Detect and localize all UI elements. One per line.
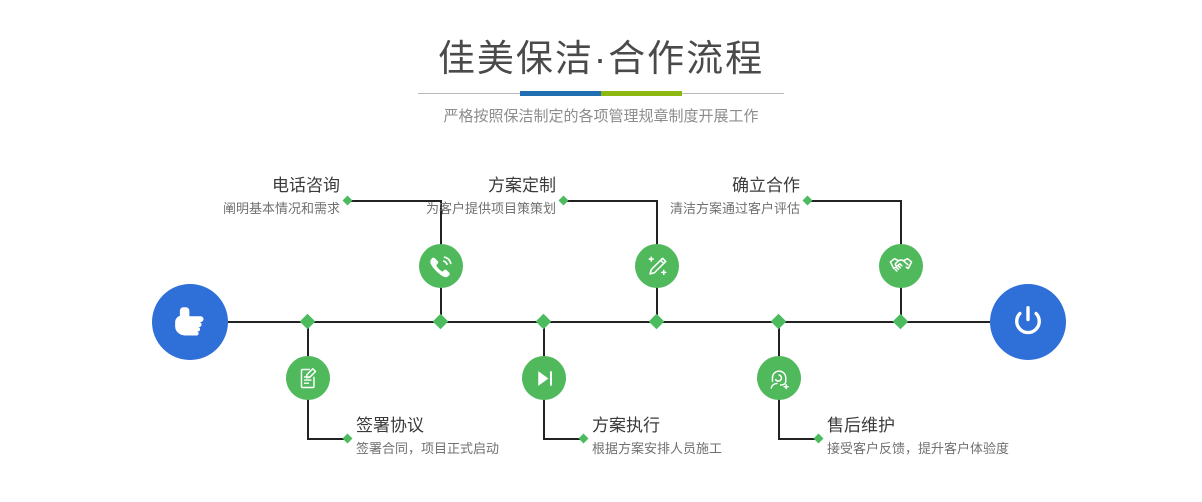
connector-horizontal-step-4 — [543, 438, 582, 440]
step-title-5: 确立合作 — [520, 175, 800, 197]
phone-call-icon — [428, 253, 454, 279]
step-node-2[interactable] — [286, 356, 330, 400]
rail-marker-step-1 — [433, 314, 449, 330]
power-icon — [1008, 302, 1048, 342]
page-header: 佳美保洁·合作流程 严格按照保洁制定的各项管理规章制度开展工作 — [0, 0, 1202, 150]
process-flow-diagram: 电话咨询 阐明基本情况和需求 方案定制 为客户提供项目策策划 — [0, 150, 1202, 502]
connector-horizontal-step-5 — [808, 200, 902, 202]
page-title: 佳美保洁·合作流程 — [0, 36, 1202, 82]
step-title-6: 售后维护 — [827, 415, 1157, 437]
step-desc-5: 清洁方案通过客户评估 — [520, 199, 800, 219]
customer-service-icon — [767, 366, 792, 391]
page-subtitle: 严格按照保洁制定的各项管理规章制度开展工作 — [0, 105, 1202, 129]
step-node-6[interactable] — [757, 356, 801, 400]
rail-marker-step-2 — [300, 314, 316, 330]
title-divider — [418, 93, 784, 94]
step-label-3: 方案定制 为客户提供项目策策划 — [276, 175, 556, 219]
label-marker-step-2 — [343, 434, 353, 444]
connector-horizontal-step-2 — [307, 438, 346, 440]
label-marker-step-5 — [803, 196, 813, 206]
flow-end-node[interactable] — [990, 284, 1066, 360]
pointing-hand-icon — [170, 302, 210, 342]
step-desc-6: 接受客户反馈，提升客户体验度 — [827, 439, 1157, 459]
step-label-5: 确立合作 清洁方案通过客户评估 — [520, 175, 800, 219]
connector-horizontal-step-6 — [778, 438, 817, 440]
rail-marker-step-4 — [536, 314, 552, 330]
rail-marker-step-6 — [771, 314, 787, 330]
step-label-6: 售后维护 接受客户反馈，提升客户体验度 — [827, 415, 1157, 459]
divider-blue-segment — [520, 91, 601, 96]
sign-document-icon — [296, 366, 321, 391]
handshake-icon — [888, 253, 914, 279]
divider-green-segment — [601, 91, 682, 96]
pencil-icon — [645, 254, 670, 279]
play-execute-icon — [532, 366, 557, 391]
step-node-5[interactable] — [879, 244, 923, 288]
step-title-3: 方案定制 — [276, 175, 556, 197]
timeline-rail — [228, 321, 990, 323]
flow-start-node[interactable] — [152, 284, 228, 360]
rail-marker-step-5 — [893, 314, 909, 330]
step-node-3[interactable] — [635, 244, 679, 288]
step-node-4[interactable] — [522, 356, 566, 400]
step-node-1[interactable] — [419, 244, 463, 288]
rail-marker-step-3 — [649, 314, 665, 330]
step-desc-3: 为客户提供项目策策划 — [276, 199, 556, 219]
